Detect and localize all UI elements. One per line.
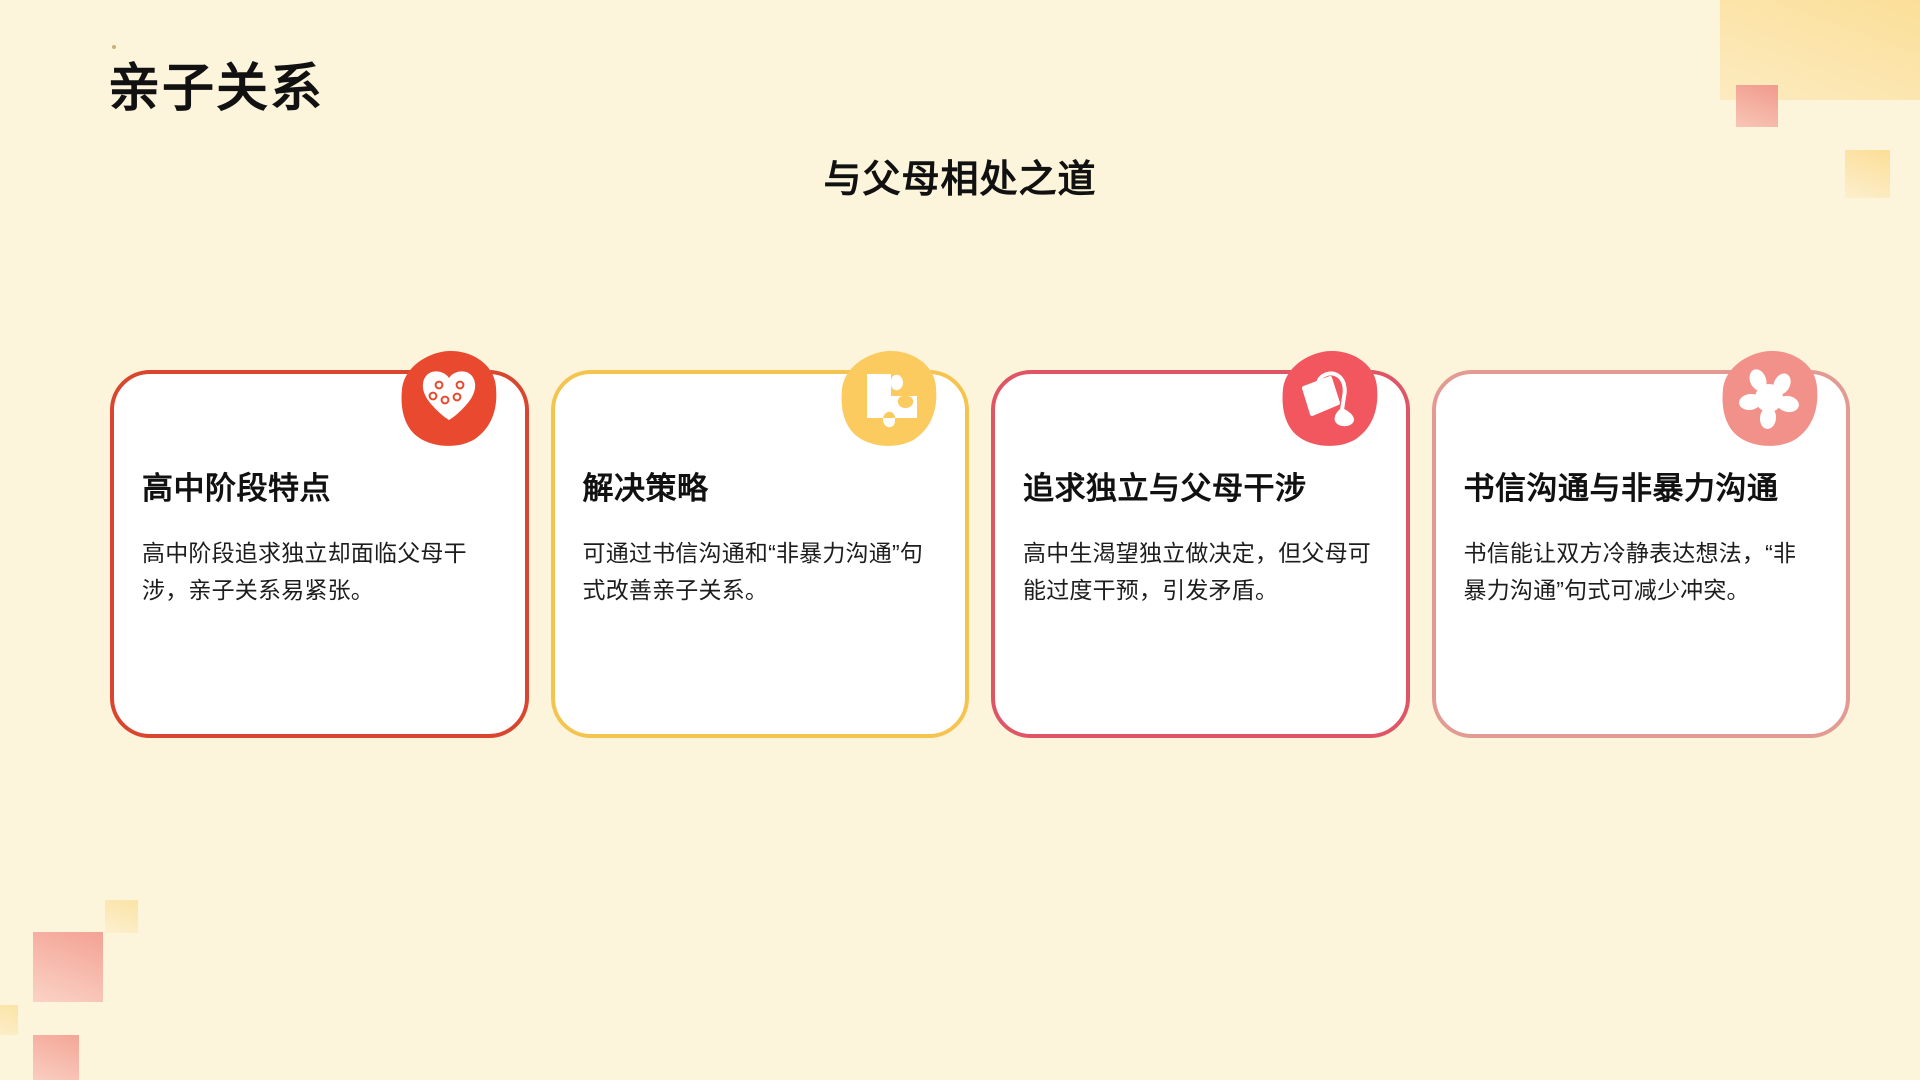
page-title: 亲子关系 bbox=[108, 58, 324, 120]
card-2-body: 可通过书信沟通和“非暴力沟通”句式改善亲子关系。 bbox=[583, 535, 938, 610]
card-2[interactable]: 解决策略 可通过书信沟通和“非暴力沟通”句式改善亲子关系。 bbox=[551, 348, 970, 738]
card-2-title: 解决策略 bbox=[583, 469, 938, 509]
page-subtitle: 与父母相处之道 bbox=[0, 148, 1920, 203]
card-1-title: 高中阶段特点 bbox=[142, 469, 497, 509]
pink-square-bottom-left-lower bbox=[33, 1035, 79, 1080]
yellow-square-bottom-left-edge bbox=[0, 1005, 18, 1035]
pink-square-top-right bbox=[1736, 85, 1778, 127]
card-4[interactable]: 书信沟通与非暴力沟通 书信能让双方冷静表达想法，“非暴力沟通”句式可减少冲突。 bbox=[1432, 348, 1851, 738]
card-4-body: 书信能让双方冷静表达想法，“非暴力沟通”句式可减少冲突。 bbox=[1464, 535, 1819, 610]
card-3-title: 追求独立与父母干涉 bbox=[1023, 469, 1378, 509]
card-4-title: 书信沟通与非暴力沟通 bbox=[1464, 469, 1819, 509]
pink-square-bottom-left-large bbox=[33, 932, 103, 1002]
card-1[interactable]: 高中阶段特点 高中阶段追求独立却面临父母干涉，亲子关系易紧张。 bbox=[110, 348, 529, 738]
slide-canvas: 亲子关系 与父母相处之道 高中阶段特点 高中阶段追求独立却面临父母干涉，亲子关系… bbox=[0, 0, 1920, 1080]
flower-splat-icon bbox=[1720, 348, 1820, 448]
card-row: 高中阶段特点 高中阶段追求独立却面临父母干涉，亲子关系易紧张。 解决策略 bbox=[110, 348, 1850, 738]
paint-bucket-icon bbox=[1280, 348, 1380, 448]
dot-near-title bbox=[112, 45, 116, 49]
card-1-body: 高中阶段追求独立却面临父母干涉，亲子关系易紧张。 bbox=[142, 535, 497, 610]
yellow-square-top-right-large bbox=[1720, 0, 1920, 100]
palette-icon bbox=[399, 348, 499, 448]
card-3[interactable]: 追求独立与父母干涉 高中生渴望独立做决定，但父母可能过度干预，引发矛盾。 bbox=[991, 348, 1410, 738]
card-3-body: 高中生渴望独立做决定，但父母可能过度干预，引发矛盾。 bbox=[1023, 535, 1378, 610]
puzzle-piece-icon bbox=[839, 348, 939, 448]
yellow-square-bottom-left-small bbox=[105, 900, 138, 933]
